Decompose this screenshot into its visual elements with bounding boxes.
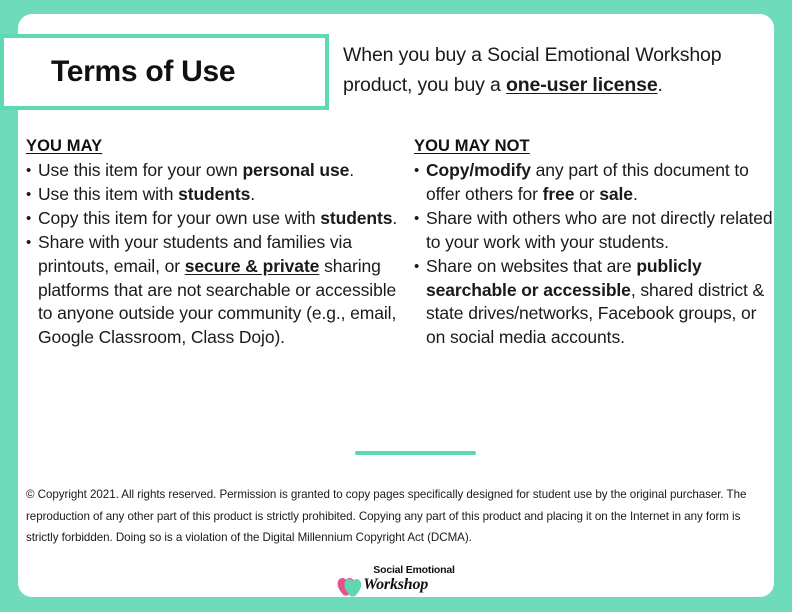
page-title: Terms of Use (51, 55, 235, 89)
rule-item: Use this item with students. (26, 183, 414, 207)
you-may-column: YOU MAY Use this item for your own perso… (18, 137, 414, 350)
rule-item: Copy/modify any part of this document to… (414, 159, 774, 207)
rule-item: Share with others who are not directly r… (414, 207, 774, 255)
you-may-not-column: YOU MAY NOT Copy/modify any part of this… (414, 137, 774, 350)
terms-of-use-page: Terms of Use When you buy a Social Emoti… (0, 0, 792, 612)
brand-logo: Social Emotional Workshop (18, 565, 774, 597)
you-may-list: Use this item for your own personal use.… (26, 159, 414, 350)
copyright-text: © Copyright 2021. All rights reserved. P… (26, 484, 764, 549)
intro-suffix: . (658, 74, 663, 96)
you-may-not-heading: YOU MAY NOT (414, 137, 774, 156)
content-card: Terms of Use When you buy a Social Emoti… (18, 14, 774, 597)
one-user-license-emphasis: one-user license (506, 74, 658, 96)
you-may-not-list: Copy/modify any part of this document to… (414, 159, 774, 350)
intro-paragraph: When you buy a Social Emotional Workshop… (343, 40, 768, 100)
section-divider (355, 451, 476, 455)
rule-item: Use this item for your own personal use. (26, 159, 414, 183)
logo-line-1: Social Emotional (373, 565, 454, 576)
rules-columns: YOU MAY Use this item for your own perso… (18, 137, 774, 350)
rule-item: Share on websites that are publicly sear… (414, 255, 774, 351)
you-may-heading: YOU MAY (26, 137, 414, 156)
rule-item: Share with your students and families vi… (26, 231, 414, 351)
page-title-box: Terms of Use (0, 34, 329, 110)
hearts-icon (337, 575, 361, 597)
logo-line-2: Workshop (363, 577, 428, 593)
rule-item: Copy this item for your own use with stu… (26, 207, 414, 231)
